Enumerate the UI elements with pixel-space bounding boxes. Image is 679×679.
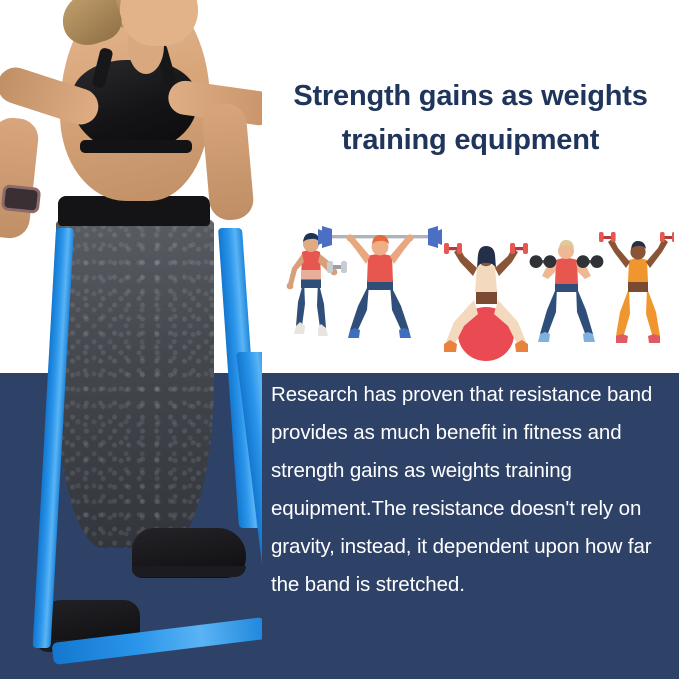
wrist-watch: [1, 184, 42, 214]
product-marketing-image: Strength gains as weights training equip…: [0, 0, 679, 679]
dumbbell-red-left: [444, 243, 462, 254]
figure-woman-arms-raised: [599, 232, 674, 343]
dumbbell-red-right: [510, 243, 528, 254]
small-weight-right: [660, 232, 674, 242]
hero-photo: [0, 0, 262, 679]
body-paragraph: Research has proven that resistance band…: [271, 376, 675, 604]
sports-bra-band: [80, 140, 192, 153]
headline: Strength gains as weights training equip…: [262, 74, 679, 162]
sneaker-sole-right: [132, 566, 246, 577]
figure-man-shoulder-press: [530, 240, 604, 342]
figure-man-overhead-barbell: [318, 226, 442, 338]
dumbbell-dark-left: [530, 255, 557, 268]
headline-line-1: Strength gains as weights: [262, 74, 679, 118]
dumbbell-dark-right: [577, 255, 604, 268]
exercise-figures-svg: [274, 222, 674, 374]
grey-leggings: [56, 218, 214, 548]
figure-woman-with-dumbbell: [287, 233, 347, 336]
exercise-illustration-strip: [274, 222, 674, 374]
figure-woman-on-exercise-ball: [444, 243, 528, 361]
small-weight-left: [599, 232, 616, 242]
headline-line-2: training equipment: [262, 118, 679, 162]
